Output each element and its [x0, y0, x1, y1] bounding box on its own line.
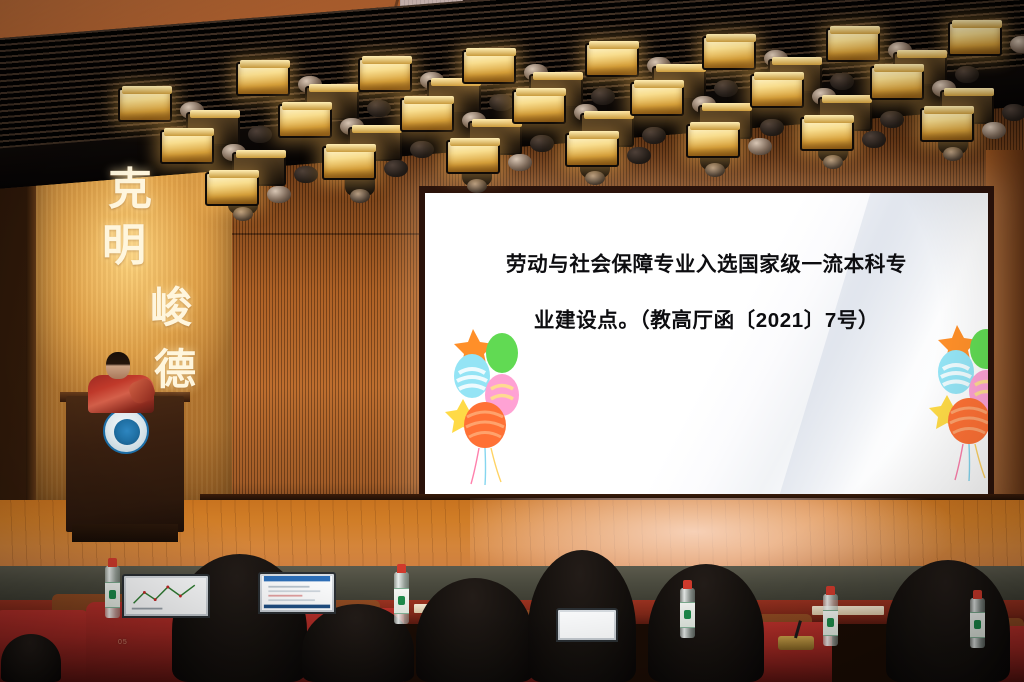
bottle-cap	[683, 580, 692, 589]
stage-spotlight-mid-5	[530, 135, 554, 152]
bottle-label	[394, 588, 409, 614]
presenter	[86, 352, 158, 410]
stage-lamp-top-2	[236, 62, 290, 96]
slide-line-1: 劳动与社会保障专业入选国家级一流本科专	[425, 237, 988, 293]
stage-spotlight-top-1	[248, 126, 272, 143]
stage-lamp-mid-0	[160, 130, 214, 164]
stage-lamp-top-6	[462, 50, 516, 84]
bottle-cap	[973, 590, 982, 599]
stage-lamp-top-14	[948, 22, 1002, 56]
stage-lamp-low-2	[446, 140, 500, 174]
stage-spotlight-top-3	[367, 100, 391, 117]
stage-lamp-top-0	[118, 88, 172, 122]
presenter-head	[106, 352, 130, 379]
stage-lamp-mid-6	[512, 90, 566, 124]
water-bottle[interactable]	[823, 594, 838, 646]
laptop-left[interactable]	[122, 574, 210, 618]
stage-spotlight-mid-11	[880, 111, 904, 128]
auditorium-photo: 克 明 峻 德 劳动与社会保障专业入选国家级一流本科专 业建设点。（教高厅函〔2…	[0, 0, 1024, 682]
stage-spotlight-low-6	[982, 122, 1006, 139]
bottle-label	[823, 610, 838, 636]
stage-lamp-low-0	[205, 172, 259, 206]
stage-lamp-low-3	[565, 133, 619, 167]
bottle-label	[970, 612, 985, 638]
stage-lamp-mid-8	[630, 82, 684, 116]
podium-base	[72, 524, 178, 542]
stage-lamp-mid-12	[870, 66, 924, 100]
stage-spotlight-mid-13	[1002, 104, 1024, 121]
bottle-cap	[108, 558, 117, 567]
laptop-screen	[556, 608, 618, 642]
bottle-label	[105, 582, 120, 608]
projection-screen: 劳动与社会保障专业入选国家级一流本科专 业建设点。（教高厅函〔2021〕7号）	[425, 193, 988, 500]
stage-lamp-low-1	[322, 146, 376, 180]
stage-lamp-top-10	[702, 36, 756, 70]
stage-spotlight-mid-3	[410, 141, 434, 158]
water-bottle[interactable]	[394, 572, 409, 624]
stage-spotlight-mid-9	[760, 119, 784, 136]
laptop-content	[560, 612, 614, 638]
slide-text-block: 劳动与社会保障专业入选国家级一流本科专 业建设点。（教高厅函〔2021〕7号）	[425, 237, 988, 349]
stage-lamp-low-6	[920, 108, 974, 142]
stage-lamp-top-8	[585, 43, 639, 77]
laptop-center[interactable]	[258, 572, 336, 614]
stage-spotlight-low-2	[508, 154, 532, 171]
stage-lamp-low-4	[686, 124, 740, 158]
laptop-right[interactable]	[556, 608, 618, 642]
stage-spotlight-mid-7	[642, 127, 666, 144]
laptop-screen	[258, 572, 336, 614]
laptop-content	[126, 578, 206, 614]
stage-spotlight-low-4	[748, 138, 772, 155]
water-bottle[interactable]	[105, 566, 120, 618]
seat-number: 05	[118, 639, 128, 646]
banner-char-2: 明	[102, 224, 146, 268]
bottle-cap	[826, 586, 835, 595]
stage-lamp-mid-10	[750, 74, 804, 108]
university-seal-icon	[103, 408, 149, 454]
desk-microphone[interactable]	[778, 636, 814, 650]
stage-lamp-low-5	[800, 117, 854, 151]
stage-spotlight-top-9	[714, 80, 738, 97]
banner-char-1: 克	[108, 168, 152, 212]
water-bottle[interactable]	[970, 598, 985, 648]
bottle-label	[680, 602, 695, 628]
stage-spotlight-top-7	[591, 88, 615, 105]
stage-spotlight-low-0	[267, 186, 291, 203]
stage-lamp-mid-2	[278, 104, 332, 138]
stage-spotlight-top-13	[955, 66, 979, 83]
stage-spotlight-low-5	[862, 131, 886, 148]
stage-lamp-mid-4	[400, 98, 454, 132]
stage-spotlight-low-3	[627, 147, 651, 164]
water-bottle[interactable]	[680, 588, 695, 638]
stage-spotlight-mid-1	[294, 166, 318, 183]
stage-spotlight-top-5	[489, 94, 513, 111]
stage-lamp-top-12	[826, 28, 880, 62]
stage-lamp-top-4	[358, 58, 412, 92]
laptop-screen	[122, 574, 210, 618]
slide-line-2: 业建设点。（教高厅函〔2021〕7号）	[425, 293, 988, 349]
stage-spotlight-top-11	[830, 73, 854, 90]
banner-char-4: 德	[154, 350, 196, 392]
bottle-cap	[397, 564, 406, 573]
banner-char-3: 峻	[150, 288, 192, 330]
laptop-content	[262, 576, 332, 610]
stage-spotlight-low-1	[384, 160, 408, 177]
